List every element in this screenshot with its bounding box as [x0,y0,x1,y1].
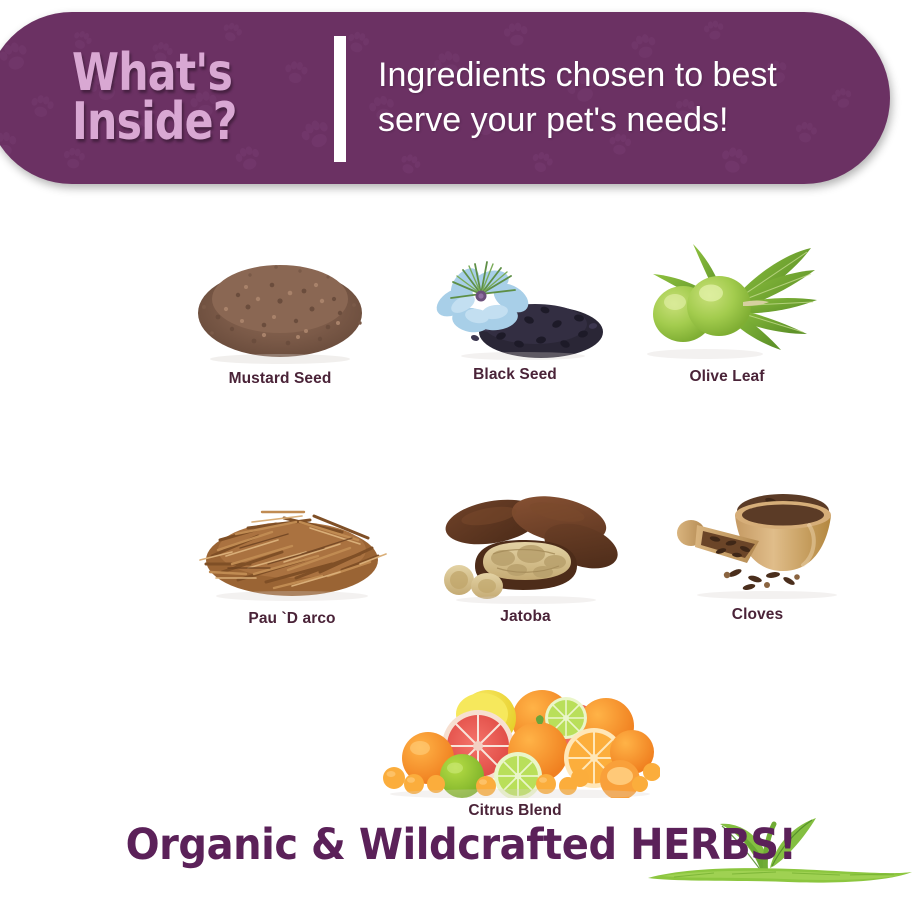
ingredient-label: Olive Leaf [632,368,822,386]
ingredient-card-cloves: Cloves [660,462,855,624]
ingredient-card-olive-leaf: Olive Leaf [632,224,822,386]
banner-title: What's Inside? [72,49,279,148]
ingredient-row-2: Pau `D arco [0,418,922,636]
jatoba-pods-image [428,464,623,604]
pau-darco-bark-image [192,466,392,606]
ingredient-card-jatoba: Jatoba [428,464,623,626]
banner-subtitle: Ingredients chosen to best serve your pe… [378,53,777,143]
ingredient-card-mustard-seed: Mustard Seed [180,226,380,388]
cloves-wooden-bowl-image [660,462,855,602]
ingredient-card-black-seed: Black Seed [420,222,610,384]
citrus-fruit-blend-image [370,678,660,798]
ingredient-label: Pau `D arco [192,610,392,628]
ingredient-card-citrus-blend: Citrus Blend [370,678,660,820]
footer: Organic & Wildcrafted HERBS! [0,812,922,898]
ingredient-row-1: Mustard Seed [0,200,922,418]
mustard-seed-pile-image [180,226,380,366]
black-seed-nigella-flower-image [420,222,610,362]
ingredient-label: Cloves [660,606,855,624]
banner-divider [334,36,346,162]
whats-inside-infographic: What's Inside? Ingredients chosen to bes… [0,0,922,906]
footer-headline: Organic & Wildcrafted HERBS! [32,820,889,870]
ingredient-label: Black Seed [420,366,610,384]
ingredient-label: Jatoba [428,608,623,626]
ingredient-label: Mustard Seed [180,370,380,388]
header-banner: What's Inside? Ingredients chosen to bes… [0,12,890,184]
ingredient-grid: Mustard Seed [0,200,922,816]
olive-leaf-olives-image [632,224,822,364]
ingredient-row-3: Citrus Blend [0,636,922,816]
ingredient-card-pau-d-arco: Pau `D arco [192,466,392,628]
